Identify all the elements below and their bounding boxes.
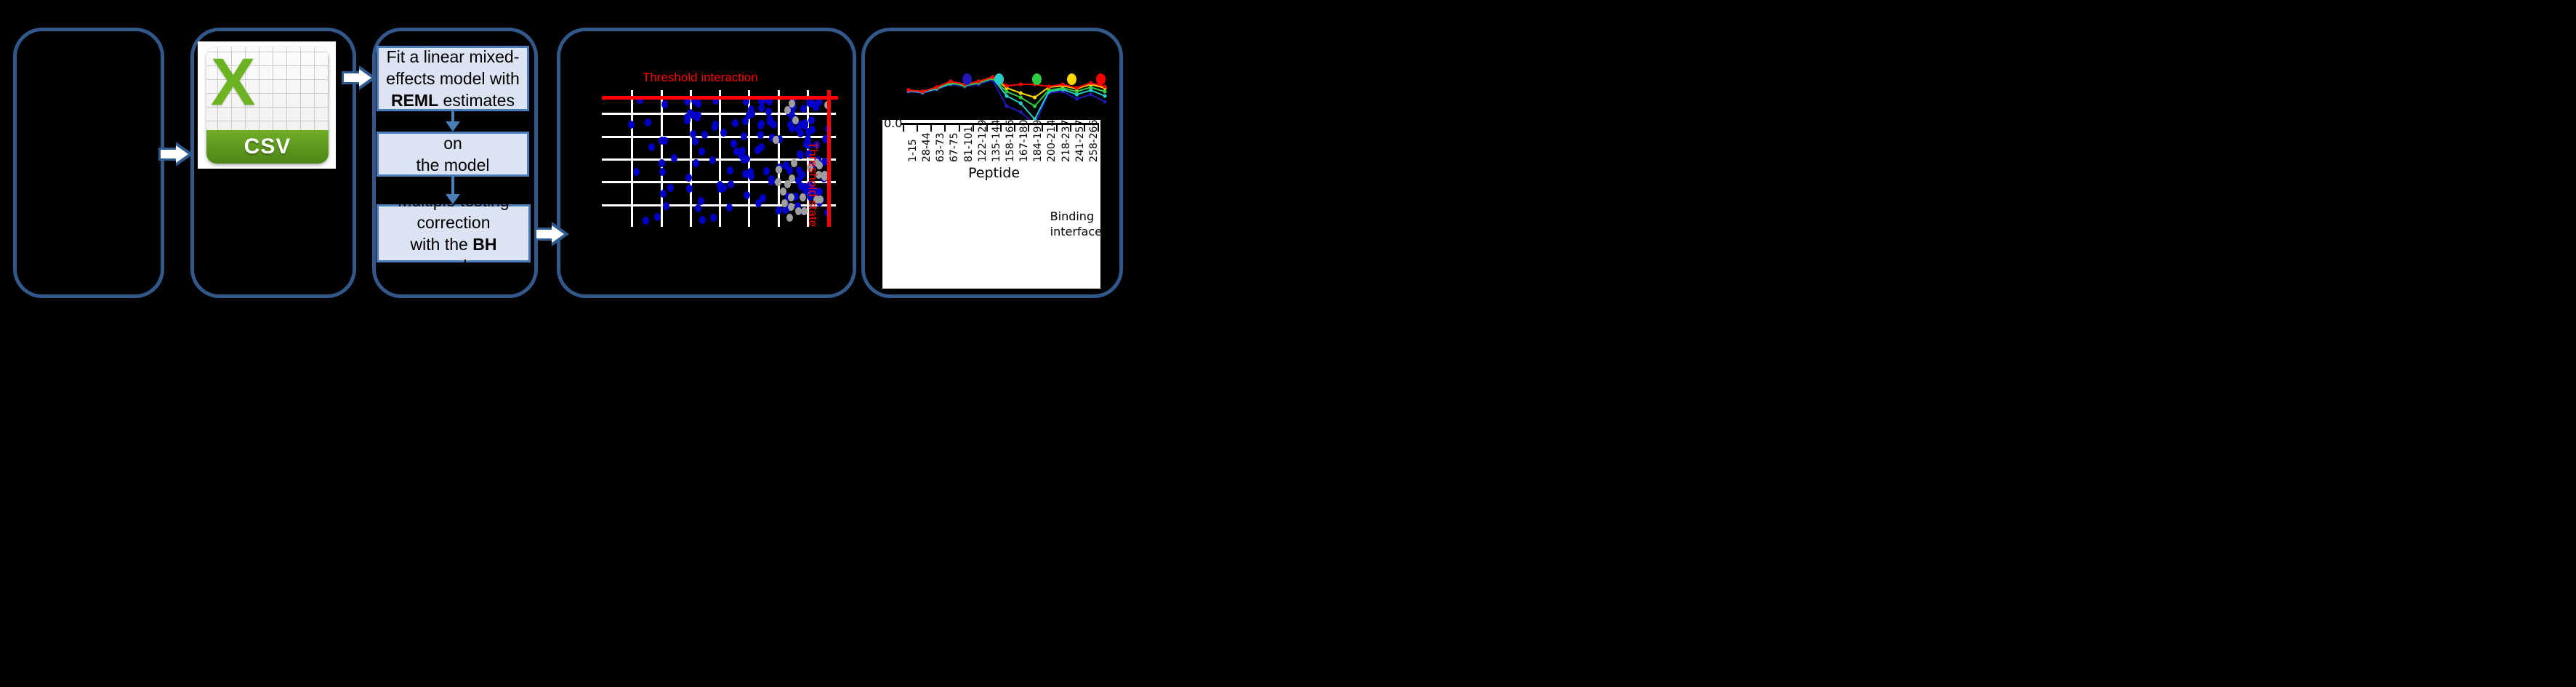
step-reml-line2: effects model with bbox=[386, 69, 520, 88]
scatter-point-blue bbox=[659, 159, 665, 167]
step-reml-line1: Fit a linear mixed- bbox=[387, 47, 520, 66]
peptide-label: 28-44 bbox=[921, 132, 933, 162]
scatter-point-blue bbox=[732, 119, 738, 127]
peptide-label: 122-129 bbox=[977, 120, 989, 162]
scatter-point-blue bbox=[699, 148, 705, 156]
marker-series-red bbox=[1075, 86, 1079, 89]
marker-series-red bbox=[1005, 84, 1008, 87]
scatter-point-grey bbox=[788, 203, 794, 211]
marker-series-red bbox=[935, 85, 938, 89]
marker-series-green bbox=[1005, 89, 1008, 93]
scatter-point-blue bbox=[755, 199, 762, 207]
scatter-point-blue bbox=[758, 104, 765, 112]
diagram-canvas: X CSV Fit a linear mixed- effects model … bbox=[0, 0, 2576, 687]
marker-series-cyan bbox=[1103, 94, 1106, 97]
scatter-point-blue bbox=[768, 175, 775, 183]
marker-series-green bbox=[1019, 95, 1023, 99]
scatter-point-blue bbox=[712, 121, 719, 129]
x-axis-tick bbox=[903, 125, 904, 132]
scatter-point-blue bbox=[796, 166, 802, 174]
arrow-head-fill bbox=[359, 69, 371, 87]
scatter-point-grey bbox=[784, 180, 791, 188]
scatter-point-blue bbox=[800, 105, 807, 113]
scatter-point-blue bbox=[709, 156, 716, 164]
arrow-analysis-to-results bbox=[534, 222, 571, 246]
scatter-point-blue bbox=[633, 168, 640, 176]
scatter-point-blue bbox=[699, 216, 706, 224]
scatter-point-blue bbox=[663, 202, 669, 210]
x-axis-tick bbox=[930, 125, 932, 132]
scatter-point-grey bbox=[773, 136, 779, 144]
peptide-label: 258-266 bbox=[1088, 120, 1100, 162]
marker-series-red bbox=[921, 89, 925, 93]
legend-dot bbox=[1067, 73, 1076, 85]
arrow-head-fill bbox=[176, 145, 188, 163]
threshold-state-label: Threshold state bbox=[805, 142, 820, 227]
scatter-point-blue bbox=[660, 190, 667, 198]
scatter-point-blue bbox=[757, 131, 764, 139]
scatter-point-grey bbox=[786, 214, 793, 222]
scatter-point-blue bbox=[806, 99, 813, 107]
peptide-label: 218-237 bbox=[1060, 120, 1072, 162]
peptide-line-chart bbox=[894, 67, 1119, 125]
peptide-label: 67-75 bbox=[949, 132, 960, 162]
scatter-point-blue bbox=[667, 184, 674, 192]
threshold-interaction-line bbox=[602, 96, 838, 100]
peptide-label: 81-101 bbox=[963, 126, 975, 162]
connector-reml-to-wald bbox=[451, 111, 454, 122]
scatter-point-grey bbox=[780, 188, 786, 196]
scatter-point-blue bbox=[765, 108, 772, 116]
x-axis-tick bbox=[959, 125, 960, 132]
step-bh-pre: with the bbox=[411, 235, 473, 254]
scatter-point-blue bbox=[661, 137, 668, 145]
step-bh-post: procedure bbox=[416, 257, 491, 276]
scatter-plot bbox=[602, 90, 836, 227]
step-reml-bold: REML bbox=[391, 91, 438, 110]
x-axis-tick bbox=[917, 125, 918, 132]
marker-series-blue bbox=[1103, 100, 1106, 103]
legend-dot bbox=[1032, 73, 1042, 85]
peptide-label: 167-180 bbox=[1018, 120, 1030, 162]
scatter-point-blue bbox=[654, 213, 661, 221]
csv-file-card: X CSV bbox=[198, 41, 336, 169]
marker-series-yellow bbox=[1019, 91, 1023, 95]
scatter-point-blue bbox=[693, 159, 699, 167]
marker-series-red bbox=[1089, 81, 1092, 84]
marker-series-red bbox=[949, 79, 952, 83]
step-bh-line2: correction bbox=[417, 213, 491, 232]
scatter-point-blue bbox=[720, 129, 727, 137]
scatter-point-blue bbox=[690, 111, 696, 119]
marker-series-red bbox=[977, 79, 981, 83]
scatter-point-blue bbox=[717, 185, 724, 193]
scatter-point-grey bbox=[788, 193, 794, 201]
scatter-point-blue bbox=[744, 155, 750, 163]
marker-series-blue bbox=[1019, 110, 1023, 113]
step-bh-bold: BH bbox=[472, 235, 496, 254]
step-wald-box: Apply Wald tests on the model parameters bbox=[377, 132, 529, 177]
binding-label-line1: Binding bbox=[1050, 209, 1100, 224]
x-axis-tick bbox=[944, 125, 946, 132]
peptide-label: 63-73 bbox=[935, 132, 946, 162]
scatter-point-blue bbox=[643, 217, 649, 225]
marker-series-cyan bbox=[1019, 101, 1023, 105]
csv-file-icon: X CSV bbox=[206, 47, 329, 164]
scatter-point-grey bbox=[781, 199, 788, 207]
arrow-shaft bbox=[342, 71, 361, 84]
scatter-point-grey bbox=[775, 178, 781, 186]
legend-dot bbox=[1096, 73, 1106, 85]
scatter-point-blue bbox=[710, 214, 717, 222]
scatter-point-blue bbox=[661, 100, 668, 108]
scatter-point-blue bbox=[686, 185, 693, 193]
csv-label: CSV bbox=[244, 134, 291, 159]
threshold-state-line bbox=[827, 90, 831, 227]
peptide-label: 1-15 bbox=[907, 139, 919, 162]
scatter-point-blue bbox=[797, 150, 803, 158]
scatter-point-blue bbox=[727, 166, 733, 174]
scatter-point-blue bbox=[728, 180, 734, 188]
scatter-point-blue bbox=[730, 140, 737, 148]
scatter-point-blue bbox=[671, 154, 677, 162]
scatter-point-blue bbox=[754, 146, 761, 154]
grid-line-horizontal bbox=[602, 113, 836, 115]
scatter-point-grey bbox=[784, 106, 791, 114]
scatter-point-blue bbox=[746, 111, 752, 119]
scatter-point-blue bbox=[767, 118, 773, 126]
marker-series-blue bbox=[1089, 92, 1092, 96]
scatter-point-blue bbox=[763, 167, 770, 175]
arrow-shaft bbox=[534, 228, 553, 241]
csv-band: CSV bbox=[206, 130, 329, 164]
marker-series-blue bbox=[1075, 97, 1079, 100]
scatter-point-grey bbox=[791, 159, 797, 167]
scatter-point-blue bbox=[795, 177, 802, 185]
marker-series-yellow bbox=[1033, 95, 1037, 99]
scatter-point-blue bbox=[685, 174, 692, 182]
scatter-point-blue bbox=[698, 197, 704, 205]
scatter-point-blue bbox=[757, 121, 764, 129]
step-reml-line3: estimates bbox=[438, 91, 515, 110]
marker-series-red bbox=[1103, 84, 1106, 88]
marker-series-green bbox=[1103, 89, 1106, 93]
scatter-point-blue bbox=[648, 143, 655, 151]
marker-series-red bbox=[1019, 82, 1023, 86]
binding-interface-annotation: Binding interface bbox=[1050, 209, 1100, 239]
data-source-panel bbox=[13, 28, 164, 298]
excel-x-icon: X bbox=[211, 49, 252, 116]
scatter-point-blue bbox=[692, 137, 699, 145]
scatter-point-blue bbox=[742, 170, 749, 178]
scatter-point-blue bbox=[645, 118, 651, 126]
legend-dot bbox=[994, 73, 1004, 85]
step-reml-text: Fit a linear mixed- effects model with R… bbox=[386, 46, 520, 111]
peptide-label: 135-144 bbox=[991, 120, 1002, 162]
step-wald-post: on bbox=[443, 134, 462, 153]
threshold-interaction-label: Threshold interaction bbox=[643, 71, 758, 85]
scatter-point-blue bbox=[776, 206, 782, 214]
scatter-point-grey bbox=[792, 116, 799, 124]
legend-dot bbox=[962, 73, 972, 85]
scatter-point-blue bbox=[748, 172, 754, 180]
scatter-point-blue bbox=[659, 168, 666, 176]
marker-series-green bbox=[1033, 104, 1037, 108]
scatter-point-blue bbox=[739, 147, 746, 155]
scatter-point-blue bbox=[809, 126, 816, 134]
step-bh-box: Multiple testing correction with the BH … bbox=[377, 204, 531, 262]
scatter-point-blue bbox=[741, 132, 747, 140]
arrow-shaft bbox=[158, 148, 177, 161]
y-axis-tick-0: 0.0 bbox=[884, 120, 902, 130]
peptide-label: 200-214 bbox=[1046, 120, 1058, 162]
arrow-source-to-data bbox=[158, 142, 195, 166]
step-wald-pre: Apply bbox=[388, 112, 435, 131]
scatter-point-blue bbox=[808, 116, 815, 124]
figure-white-card: 0.0 1-1528-4463-7367-7581-101122-129135-… bbox=[882, 120, 1100, 289]
scatter-point-blue bbox=[701, 131, 708, 139]
arrow-data-to-analysis bbox=[342, 65, 378, 90]
peptide-label: 158-166 bbox=[1005, 120, 1016, 162]
marker-series-red bbox=[906, 88, 910, 92]
scatter-point-blue bbox=[695, 204, 701, 212]
marker-series-red bbox=[1047, 84, 1050, 88]
scatter-point-blue bbox=[726, 204, 733, 212]
scatter-point-grey bbox=[776, 166, 782, 174]
peptide-label: 241-257 bbox=[1074, 120, 1086, 162]
x-axis-title: Peptide bbox=[968, 165, 1020, 181]
scatter-point-blue bbox=[786, 166, 793, 174]
scatter-point-grey bbox=[795, 207, 802, 215]
binding-label-line2: interface bbox=[1050, 224, 1100, 239]
marker-series-cyan bbox=[1005, 94, 1008, 97]
step-reml-box: Fit a linear mixed- effects model with R… bbox=[377, 46, 529, 111]
scatter-point-blue bbox=[628, 121, 635, 129]
scatter-point-blue bbox=[684, 113, 691, 121]
marker-series-blue bbox=[1005, 104, 1008, 108]
scatter-point-blue bbox=[744, 191, 750, 199]
connector-wald-to-bh bbox=[451, 177, 454, 195]
marker-series-red bbox=[1061, 82, 1065, 86]
arrow-head-fill bbox=[552, 225, 564, 243]
peptide-label: 184-199 bbox=[1032, 120, 1044, 162]
